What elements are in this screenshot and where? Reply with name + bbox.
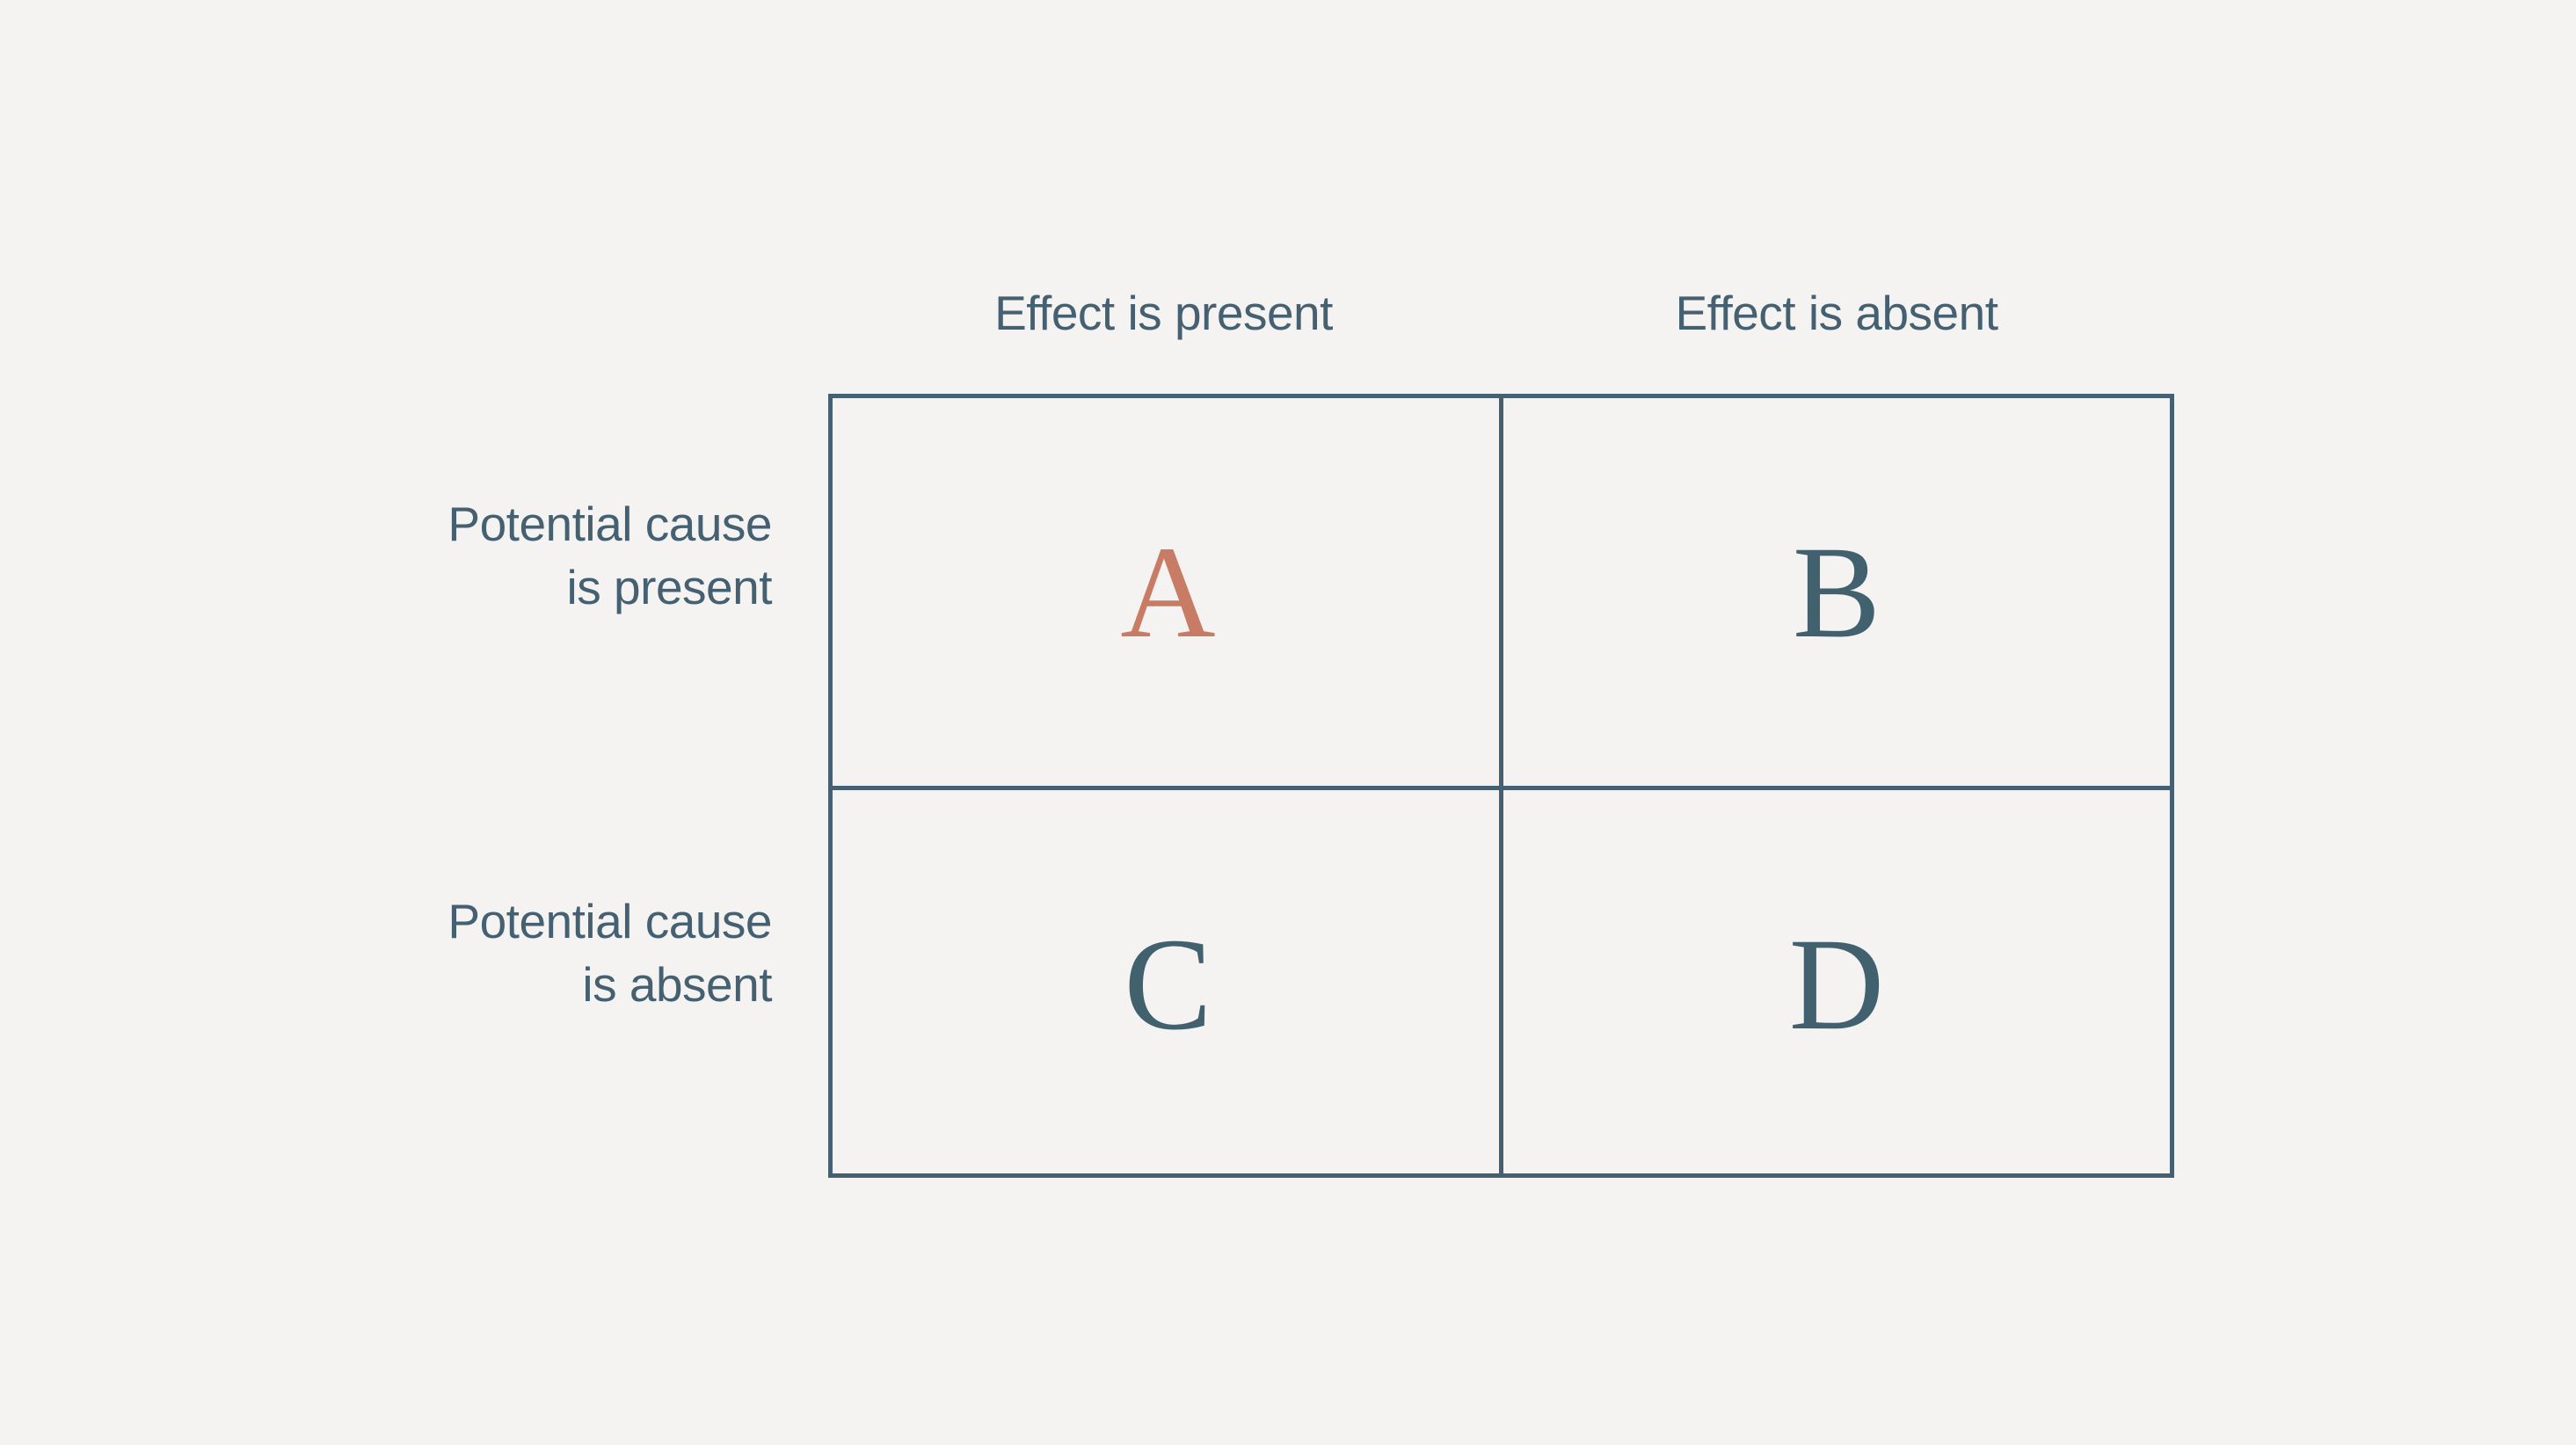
matrix-cell-a[interactable]: A — [833, 394, 1503, 786]
row-label-cause-absent-line-1: Potential cause — [158, 890, 772, 953]
matrix-cell-c[interactable]: C — [833, 790, 1503, 1178]
cell-letter-d: D — [1789, 919, 1884, 1050]
cell-letter-b: B — [1793, 526, 1881, 658]
contingency-matrix: A B C D — [828, 394, 2174, 1178]
row-label-cause-present-line-1: Potential cause — [158, 492, 772, 555]
matrix-row: A B — [833, 394, 2170, 786]
matrix-cell-b[interactable]: B — [1499, 394, 2170, 786]
row-label-cause-present-line-2: is present — [158, 555, 772, 619]
cell-letter-c: C — [1124, 919, 1212, 1050]
cell-letter-a: A — [1120, 526, 1215, 658]
column-header-effect-present: Effect is present — [828, 278, 1499, 348]
diagram-canvas: Effect is present Effect is absent Poten… — [0, 0, 2576, 1445]
column-header-effect-absent: Effect is absent — [1499, 278, 2174, 348]
row-label-cause-absent: Potential cause is absent — [158, 890, 772, 1016]
matrix-cell-d[interactable]: D — [1499, 790, 2170, 1178]
row-label-cause-present: Potential cause is present — [158, 492, 772, 619]
matrix-row: C D — [833, 786, 2170, 1178]
row-label-cause-absent-line-2: is absent — [158, 953, 772, 1016]
